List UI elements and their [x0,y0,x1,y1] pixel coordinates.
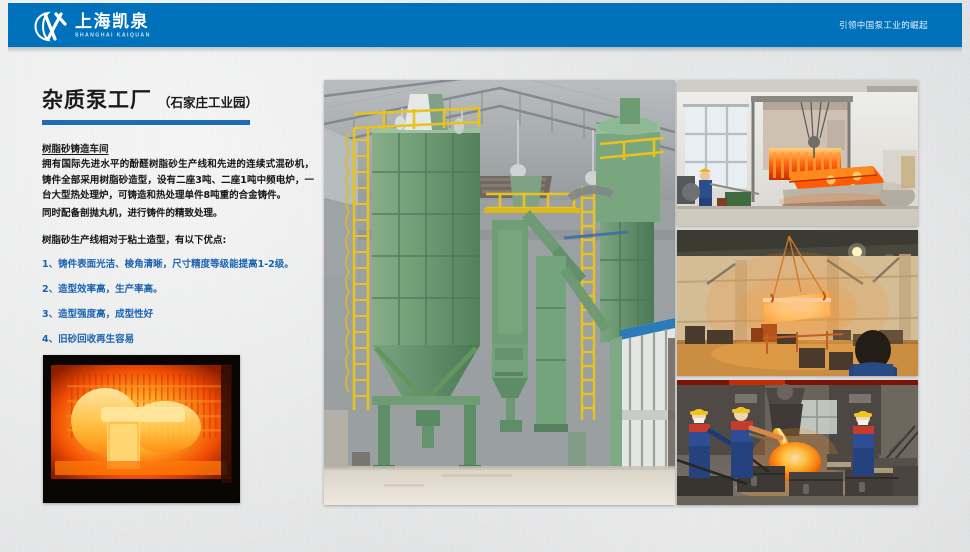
photo-foundry-hall[interactable] [324,80,675,505]
body-paragraph-1: 拥有国际先进水平的酚醛树脂砂生产线和先进的连续式混砂机，铸件全部采用树脂砂造型，… [42,157,314,204]
bullets-lead-in: 树脂砂生产线相对于粘土造型，有以下优点: [42,233,314,249]
title-underline-rule [42,120,250,125]
foundry-hall-image [324,80,675,505]
photo-pouring[interactable] [677,380,918,505]
pouring-image [677,380,918,505]
page-title: 杂质泵工厂 [42,84,152,114]
photo-furnace-interior[interactable] [43,355,240,503]
body-paragraph-2: 同时配备剖抛丸机，进行铸件的精致处理。 [42,206,314,222]
header-bar: 上海凯泉 SHANGHAI KAIQUAN 引领中国泵工业的崛起 [8,3,962,47]
list-item: 1、铸件表面光洁、棱角清晰，尺寸精度等级能提高1-2级。 [42,258,314,272]
list-item: 2、造型效率高，生产率高。 [42,283,314,297]
kaiquan-pump-logo-icon [34,11,68,42]
title-row: 杂质泵工厂 （石家庄工业园） [42,84,314,114]
header-slogan: 引领中国泵工业的崛起 [839,3,928,47]
heat-treatment-furnace-image [677,80,918,226]
brand-name-cn: 上海凯泉 [75,13,151,31]
advantages-list: 1、铸件表面光洁、棱角清晰，尺寸精度等级能提高1-2级。 2、造型效率高，生产率… [42,258,314,347]
list-item: 4、旧砂回收再生容易 [42,333,314,347]
photo-heat-treatment-furnace[interactable] [677,80,918,226]
text-column: 杂质泵工厂 （石家庄工业园） 树脂砂铸造车间 拥有国际先进水平的酚醛树脂砂生产线… [42,84,314,358]
furnace-interior-image [43,355,240,503]
photo-hot-lift[interactable] [677,230,918,376]
section-heading: 树脂砂铸造车间 [42,141,314,155]
hot-lift-image [677,230,918,376]
slide-canvas: 上海凯泉 SHANGHAI KAIQUAN 引领中国泵工业的崛起 杂质泵工厂 （… [0,0,970,552]
header-shadow [8,47,962,53]
brand-wordmark: 上海凯泉 SHANGHAI KAIQUAN [75,13,151,39]
brand-logo[interactable]: 上海凯泉 SHANGHAI KAIQUAN [34,9,151,43]
brand-name-en: SHANGHAI KAIQUAN [75,31,151,39]
page-subtitle: （石家庄工业园） [158,92,258,111]
list-item: 3、造型强度高，成型性好 [42,308,314,322]
